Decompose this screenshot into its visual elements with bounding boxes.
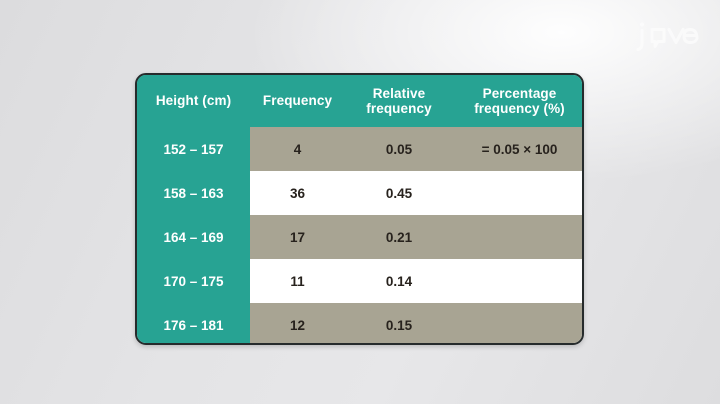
header-frequency: Frequency [250, 75, 345, 127]
cell-height: 164 – 169 [137, 215, 250, 259]
cell-frequency: 12 [250, 303, 345, 345]
table-row: 176 – 181 12 0.15 [137, 303, 582, 345]
cell-percentage: = 0.05 × 100 [453, 127, 584, 171]
table-row: 158 – 163 36 0.45 [137, 171, 582, 215]
cell-relative: 0.21 [345, 215, 453, 259]
table-row: 164 – 169 17 0.21 [137, 215, 582, 259]
cell-percentage [453, 215, 584, 259]
cell-height: 170 – 175 [137, 259, 250, 303]
cell-frequency: 11 [250, 259, 345, 303]
jove-logo [636, 18, 700, 54]
cell-relative: 0.15 [345, 303, 453, 345]
frequency-distribution-table: Height (cm) Frequency Relativefrequency … [135, 73, 584, 345]
header-percentage-frequency: Percentagefrequency (%) [453, 75, 584, 127]
cell-percentage [453, 171, 584, 215]
header-relative-frequency: Relativefrequency [345, 75, 453, 127]
table-row: 170 – 175 11 0.14 [137, 259, 582, 303]
jove-logo-mark [636, 18, 700, 54]
table-row: 152 – 157 4 0.05 = 0.05 × 100 [137, 127, 582, 171]
cell-height: 158 – 163 [137, 171, 250, 215]
cell-height: 176 – 181 [137, 303, 250, 345]
cell-percentage [453, 259, 584, 303]
cell-frequency: 36 [250, 171, 345, 215]
jove-logo-dot [640, 23, 644, 27]
header-height: Height (cm) [137, 75, 250, 127]
cell-relative: 0.14 [345, 259, 453, 303]
cell-frequency: 17 [250, 215, 345, 259]
cell-relative: 0.45 [345, 171, 453, 215]
table-header-row: Height (cm) Frequency Relativefrequency … [137, 75, 582, 127]
cell-relative: 0.05 [345, 127, 453, 171]
cell-frequency: 4 [250, 127, 345, 171]
cell-percentage [453, 303, 584, 345]
cell-height: 152 – 157 [137, 127, 250, 171]
